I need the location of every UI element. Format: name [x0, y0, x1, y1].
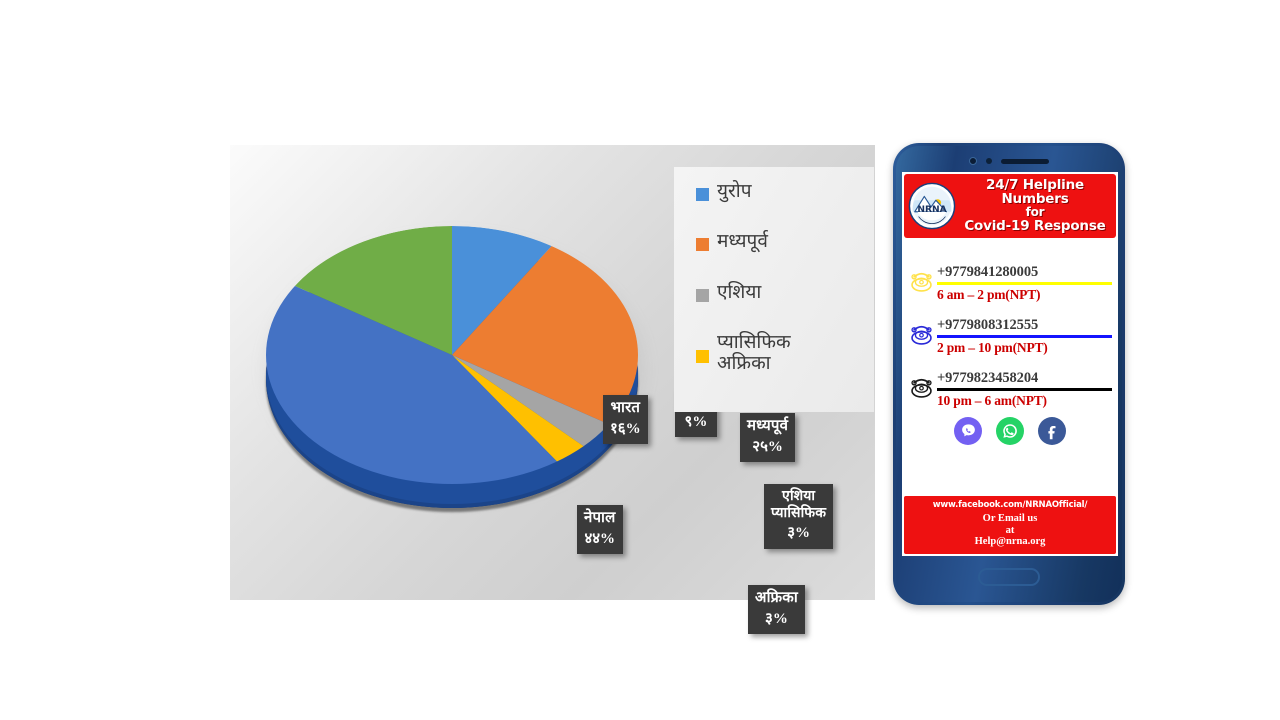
- legend-swatch-asia: [696, 289, 709, 302]
- pie-label-madhyapurva: मध्यपूर्व २५%: [740, 413, 795, 462]
- facebook-url-link[interactable]: www.facebook.com/NRNAOfficial/: [907, 500, 1113, 510]
- telephone-icon-blue: [908, 318, 935, 347]
- helpline-number-1[interactable]: +9779841280005: [937, 264, 1112, 282]
- helpline-hours-2: 2 pm – 10 pm(NPT): [937, 340, 1112, 356]
- legend-item-afrika[interactable]: प्यासिफिक अफ्रिका: [696, 332, 864, 375]
- home-button[interactable]: [978, 568, 1040, 586]
- legend-item-madhyapurva[interactable]: मध्यपूर्व: [696, 231, 864, 252]
- legend-swatch-afrika: [696, 350, 709, 363]
- helpline-number-3[interactable]: +9779823458204: [937, 370, 1112, 388]
- legend-item-asia[interactable]: एशिया: [696, 282, 864, 303]
- slide-canvas: भारत १६% युरोप ९% मध्यपूर्व २५% एशिया प्…: [0, 0, 1280, 720]
- facebook-glyph: [1043, 422, 1061, 440]
- helpline-poster: NRNA 24/7 Helpline Numbers for Covid-19 …: [902, 172, 1118, 556]
- whatsapp-icon[interactable]: [996, 417, 1024, 445]
- legend-label-afrika: प्यासिफिक अफ्रिका: [717, 332, 791, 375]
- email-line2: at: [907, 525, 1113, 537]
- pie-label-afrika-name: अफ्रिका: [755, 590, 798, 608]
- chart-legend: युरोप मध्यपूर्व एशिया प्यासिफिक अफ्रिका: [674, 167, 874, 412]
- front-camera-icon: [969, 157, 977, 165]
- pie-chart-3d: [258, 200, 653, 530]
- pie-label-yurop-pct: ९%: [682, 414, 710, 432]
- facebook-icon[interactable]: [1038, 417, 1066, 445]
- poster-title-line1: 24/7 Helpline Numbers: [959, 178, 1111, 207]
- helpline-underline-1: [937, 282, 1112, 285]
- whatsapp-glyph: [1001, 422, 1019, 440]
- legend-swatch-madhyapurva: [696, 238, 709, 251]
- pie-label-afrika-pct: ३%: [755, 611, 798, 629]
- legend-label-yurop: युरोप: [717, 181, 752, 202]
- telephone-icon-black: [908, 371, 935, 400]
- helpline-texts-1: +9779841280005 6 am – 2 pm(NPT): [937, 264, 1112, 303]
- phone-mockup: NRNA 24/7 Helpline Numbers for Covid-19 …: [893, 143, 1125, 605]
- proximity-sensor-icon: [986, 158, 992, 164]
- svg-text:NRNA: NRNA: [917, 204, 946, 214]
- helpline-row-1[interactable]: +9779841280005 6 am – 2 pm(NPT): [908, 264, 1112, 303]
- pie-label-bharat: भारत १६%: [603, 395, 648, 444]
- phone-top-bezel: [900, 150, 1118, 172]
- poster-body: +9779841280005 6 am – 2 pm(NPT): [902, 238, 1118, 496]
- helpline-underline-2: [937, 335, 1112, 338]
- pie-top-face: [266, 226, 638, 484]
- pie-label-nepal-name: नेपाल: [584, 510, 616, 528]
- helpline-texts-2: +9779808312555 2 pm – 10 pm(NPT): [937, 317, 1112, 356]
- helpline-hours-3: 10 pm – 6 am(NPT): [937, 393, 1112, 409]
- helpline-underline-3: [937, 388, 1112, 391]
- viber-glyph: [960, 423, 977, 440]
- poster-title-line3: Covid-19 Response: [959, 219, 1111, 233]
- phone-bottom-bezel: [896, 557, 1122, 597]
- phone-screen[interactable]: NRNA 24/7 Helpline Numbers for Covid-19 …: [902, 172, 1118, 556]
- helpline-hours-1: 6 am – 2 pm(NPT): [937, 287, 1112, 303]
- legend-item-yurop[interactable]: युरोप: [696, 181, 864, 202]
- pie-label-bharat-pct: १६%: [610, 421, 641, 439]
- pie-label-nepal: नेपाल ४४%: [577, 505, 623, 554]
- pie-label-asia-pacific: एशिया प्यासिफिक ३%: [764, 484, 833, 549]
- pie-slices-svg: [266, 226, 638, 484]
- helpline-texts-3: +9779823458204 10 pm – 6 am(NPT): [937, 370, 1112, 409]
- poster-footer: www.facebook.com/NRNAOfficial/ Or Email …: [904, 496, 1116, 554]
- social-icons-row: [908, 417, 1112, 445]
- pie-label-madhyapurva-pct: २५%: [747, 439, 788, 457]
- email-address[interactable]: Help@nrna.org: [907, 536, 1113, 548]
- pie-chart-panel: भारत १६% युरोप ९% मध्यपूर्व २५% एशिया प्…: [230, 145, 875, 600]
- email-line1: Or Email us: [907, 513, 1113, 525]
- legend-swatch-yurop: [696, 188, 709, 201]
- poster-title: 24/7 Helpline Numbers for Covid-19 Respo…: [959, 178, 1111, 234]
- helpline-row-3[interactable]: +9779823458204 10 pm – 6 am(NPT): [908, 370, 1112, 409]
- legend-label-madhyapurva: मध्यपूर्व: [717, 231, 768, 252]
- phone-body: NRNA 24/7 Helpline Numbers for Covid-19 …: [896, 146, 1122, 602]
- pie-plot-area: भारत १६% युरोप ९% मध्यपूर्व २५% एशिया प्…: [230, 145, 670, 600]
- legend-label-asia: एशिया: [717, 282, 761, 303]
- poster-header: NRNA 24/7 Helpline Numbers for Covid-19 …: [904, 174, 1116, 238]
- nrna-logo-icon: NRNA: [908, 182, 956, 230]
- earpiece-speaker: [1001, 159, 1049, 164]
- telephone-icon-yellow: [908, 265, 935, 294]
- viber-icon[interactable]: [954, 417, 982, 445]
- pie-label-asia-pacific-name: एशिया प्यासिफिक: [771, 489, 826, 522]
- pie-label-madhyapurva-name: मध्यपूर्व: [747, 418, 788, 436]
- pie-label-afrika: अफ्रिका ३%: [748, 585, 805, 634]
- pie-label-bharat-name: भारत: [610, 400, 641, 418]
- email-block: Or Email us at Help@nrna.org: [907, 513, 1113, 548]
- helpline-row-2[interactable]: +9779808312555 2 pm – 10 pm(NPT): [908, 317, 1112, 356]
- pie-label-nepal-pct: ४४%: [584, 531, 616, 549]
- helpline-number-2[interactable]: +9779808312555: [937, 317, 1112, 335]
- pie-label-asia-pacific-pct: ३%: [771, 525, 826, 543]
